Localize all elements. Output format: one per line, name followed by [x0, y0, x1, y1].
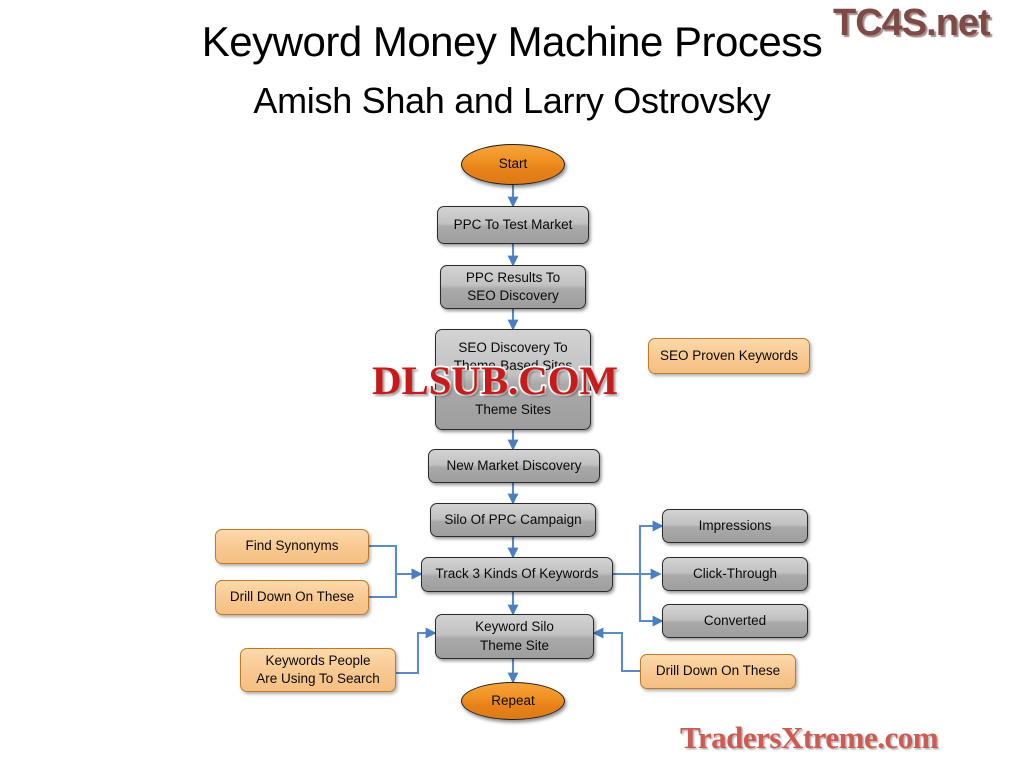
- node-repeat-label: Repeat: [462, 692, 564, 710]
- node-ppc-to-test-market[interactable]: PPC To Test Market: [437, 206, 589, 244]
- slide-canvas: Keyword Money Machine Process Amish Shah…: [0, 0, 1024, 768]
- node-click-through[interactable]: Click-Through: [662, 557, 808, 591]
- node-start-label: Start: [462, 155, 564, 173]
- node-keywords-people-are-using-to-search-label: Keywords PeopleAre Using To Search: [241, 652, 395, 688]
- watermark-dlsub: DLSUB.COM: [372, 357, 618, 404]
- node-start[interactable]: Start: [461, 144, 565, 185]
- node-silo-of-ppc-campaign[interactable]: Silo Of PPC Campaign: [430, 503, 596, 537]
- watermark-tc4s: TC4S.net: [833, 2, 990, 45]
- node-track-3-kinds-of-keywords-label: Track 3 Kinds Of Keywords: [422, 565, 612, 583]
- node-drill-down-on-these-left-label: Drill Down On These: [216, 588, 368, 606]
- watermark-tradersxtreme: TradersXtreme.com: [680, 720, 938, 756]
- node-keyword-silo-theme-site[interactable]: Keyword SiloTheme Site: [435, 614, 594, 659]
- node-new-market-discovery-label: New Market Discovery: [429, 457, 599, 475]
- node-ppc-results-to-seo-discovery[interactable]: PPC Results ToSEO Discovery: [440, 265, 586, 309]
- node-find-synonyms-label: Find Synonyms: [216, 537, 368, 555]
- node-impressions-label: Impressions: [663, 517, 807, 535]
- node-drill-down-on-these-right-label: Drill Down On These: [641, 662, 795, 680]
- node-find-synonyms[interactable]: Find Synonyms: [215, 529, 369, 564]
- node-drill-down-on-these-right[interactable]: Drill Down On These: [640, 654, 796, 689]
- node-silo-of-ppc-campaign-label: Silo Of PPC Campaign: [431, 511, 595, 529]
- node-converted-label: Converted: [663, 612, 807, 630]
- node-ppc-to-test-market-label: PPC To Test Market: [438, 216, 588, 234]
- node-converted[interactable]: Converted: [662, 604, 808, 638]
- node-new-market-discovery[interactable]: New Market Discovery: [428, 449, 600, 483]
- node-ppc-results-to-seo-discovery-label: PPC Results ToSEO Discovery: [441, 269, 585, 305]
- node-seo-proven-keywords[interactable]: SEO Proven Keywords: [648, 338, 810, 374]
- node-drill-down-on-these-left[interactable]: Drill Down On These: [215, 580, 369, 615]
- node-impressions[interactable]: Impressions: [662, 509, 808, 543]
- node-seo-proven-keywords-label: SEO Proven Keywords: [649, 347, 809, 365]
- node-keyword-silo-theme-site-label: Keyword SiloTheme Site: [436, 618, 593, 654]
- page-subtitle: Amish Shah and Larry Ostrovsky: [0, 80, 1024, 122]
- node-click-through-label: Click-Through: [663, 565, 807, 583]
- node-repeat[interactable]: Repeat: [461, 682, 565, 720]
- node-keywords-people-are-using-to-search[interactable]: Keywords PeopleAre Using To Search: [240, 648, 396, 692]
- node-track-3-kinds-of-keywords[interactable]: Track 3 Kinds Of Keywords: [421, 557, 613, 592]
